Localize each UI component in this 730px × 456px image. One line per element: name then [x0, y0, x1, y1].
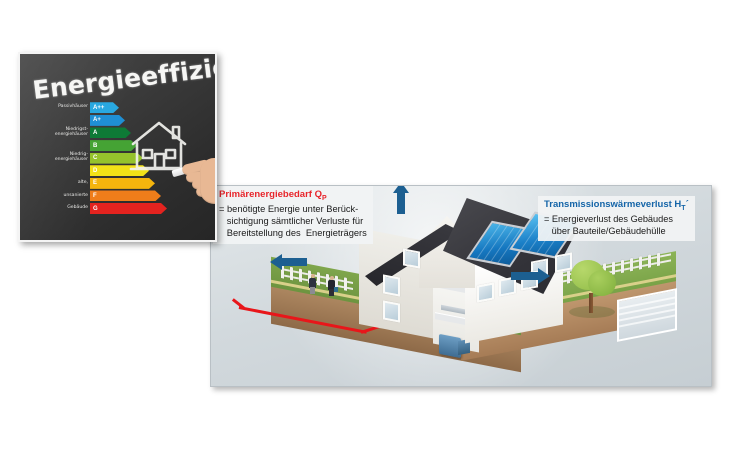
heat-loss-arrow-right-head [538, 268, 550, 284]
energy-scale-bar-G: G [90, 203, 167, 214]
callout-transmissionswaermeverlust: Transmissionswärmeverlust HT´ = Energiev… [538, 196, 695, 241]
tree-foliage-front [588, 270, 616, 296]
callout-primary-line-2: sichtigung sämtlicher Verluste für [219, 216, 367, 228]
energy-scale-bar-Aplusplus: A++ [90, 102, 119, 113]
hand-holding-chalk [170, 146, 217, 210]
callout-primary-heading: Primärenergiebedarf QP [219, 189, 367, 204]
callout-primaerenergiebedarf: Primärenergiebedarf QP = benötigte Energ… [213, 186, 373, 244]
energy-scale-caption: Passivhäuser [58, 105, 88, 110]
callout-primary-line-3: Bereitstellung des Energieträgers [219, 228, 367, 240]
energy-scale-caption: Niedrig- energiehäuser [55, 153, 88, 163]
callout-transmission-line-2: über Bauteile/Gebäudehülle [544, 226, 689, 238]
blackboard-panel: Energieeffizienz PassivhäuserA++A+Niedri… [18, 52, 217, 242]
callout-primary-line-1: = benötigte Energie unter Berück- [219, 204, 367, 216]
window-left-upper [403, 248, 420, 268]
heat-loss-arrow-left-shaft [281, 258, 307, 266]
energy-scale-bar-E: E [90, 178, 155, 189]
palm [200, 158, 217, 204]
heat-loss-arrow-left-head [270, 254, 282, 270]
energy-scale-caption: Niedrigst- energiehäuser [55, 128, 88, 138]
callout-transmission-line-1: = Energieverlust des Gebäudes [544, 214, 689, 226]
energy-scale-row-G: GebäudeG [32, 203, 144, 215]
window-left-middle [383, 274, 400, 296]
window-left-lower [383, 300, 400, 322]
energy-scale-bar-A: A [90, 127, 131, 138]
callout-transmission-heading: Transmissionswärmeverlust HT´ [544, 199, 689, 214]
energy-scale-row-F: unsanierteF [32, 190, 144, 202]
tree-trunk [589, 293, 593, 313]
energy-scale-row-Aplusplus: PassivhäuserA++ [32, 102, 144, 114]
window-right-lower-1 [477, 282, 494, 302]
heat-loss-arrow-up-head [393, 185, 409, 193]
window-right-upper-2 [555, 252, 572, 272]
person-figure-2 [328, 276, 335, 296]
subscript-p: P [322, 195, 327, 202]
energy-scale-row-E: alte,E [32, 178, 144, 190]
heat-loss-arrow-up-shaft [397, 192, 405, 214]
energy-scale-caption: unsanierte [63, 194, 88, 199]
briefcase-icon [334, 287, 338, 292]
energy-scale-caption: alte, [78, 181, 88, 186]
person-legs [310, 287, 315, 294]
heat-loss-arrow-right-shaft [511, 272, 539, 280]
prime-mark: ´ [686, 199, 689, 210]
energy-scale-bar-Aplus: A+ [90, 115, 125, 126]
person-figure-1 [309, 274, 316, 294]
energy-scale-caption: Gebäude [67, 206, 88, 211]
energy-scale-bar-F: F [90, 190, 161, 201]
